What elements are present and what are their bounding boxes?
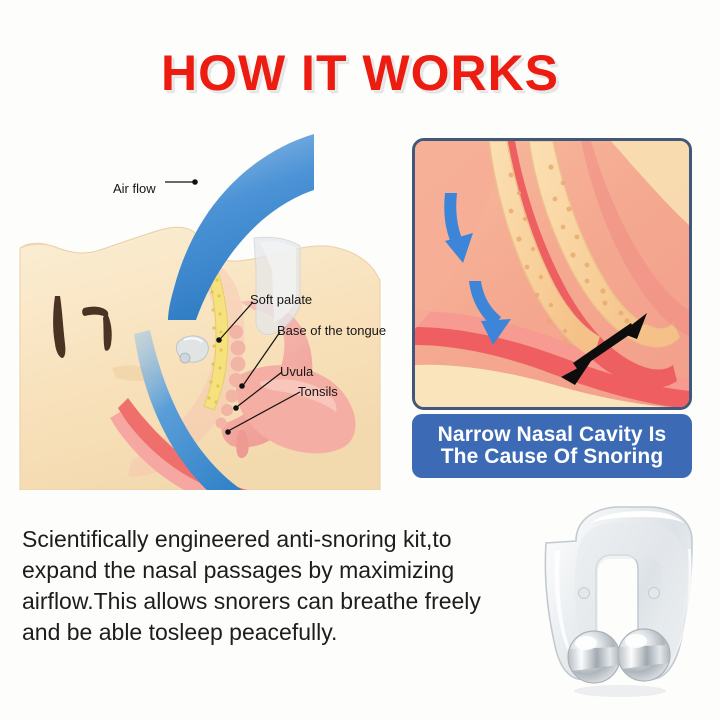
label-tonsils: Tonsils: [298, 384, 338, 399]
leader-dot-tonsils: [226, 430, 230, 434]
product-photo-nose-clip: [524, 497, 714, 707]
leader-dot-base-of-tongue: [240, 384, 244, 388]
magnet-ball-right: [618, 629, 670, 681]
caption-line-1: Narrow Nasal Cavity Is: [438, 424, 667, 446]
label-soft-palate: Soft palate: [250, 292, 312, 307]
page-title: HOW IT WORKS: [0, 44, 720, 102]
nose-clip-magnet: [180, 353, 190, 363]
description-line-2: expand the nasal passages by maximizing: [22, 555, 502, 586]
description-line-3: airflow.This allows snorers can breathe …: [22, 586, 502, 617]
leader-dot-soft-palate: [217, 338, 221, 342]
nose-clip-on-face: [176, 336, 208, 363]
leader-dot-uvula: [234, 406, 238, 410]
label-uvula: Uvula: [280, 364, 313, 379]
label-air-flow: Air flow: [113, 181, 156, 196]
description-line-1: Scientifically engineered anti-snoring k…: [22, 524, 502, 555]
description-line-4: and be able tosleep peacefully.: [22, 617, 502, 648]
how-it-works-infographic: HOW IT WORKS: [0, 0, 720, 720]
magnet-ball-left: [568, 631, 620, 683]
product-shadow: [574, 685, 666, 697]
leader-dot-air-flow: [193, 180, 197, 184]
snoring-anatomy-diagram: Air flow Soft palate Base of the tongue …: [8, 130, 408, 490]
product-description: Scientifically engineered anti-snoring k…: [22, 524, 502, 648]
label-base-of-tongue: Base of the tongue: [277, 323, 386, 338]
caption-banner: Narrow Nasal Cavity Is The Cause Of Snor…: [412, 414, 692, 478]
caption-line-2: The Cause Of Snoring: [441, 446, 664, 468]
narrow-nasal-cavity-panel: [412, 138, 692, 410]
clip-nub-left: [579, 588, 590, 599]
clip-nub-right: [649, 588, 660, 599]
